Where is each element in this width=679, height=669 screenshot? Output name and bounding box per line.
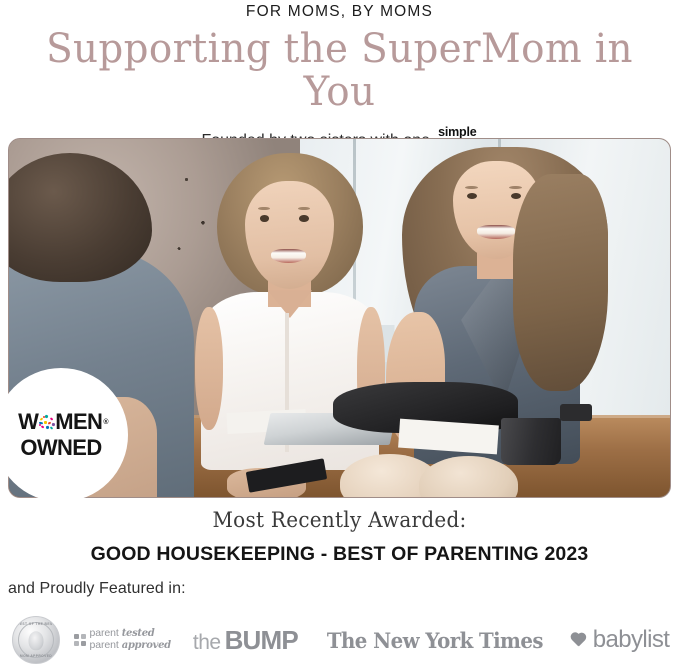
photo-woman-center-smile bbox=[271, 249, 306, 263]
cribsie-award-seal: BEST OF THE BEST MOM APPROVED bbox=[12, 616, 60, 664]
photo-woman-right-smile bbox=[477, 225, 515, 239]
press-logo-row: BEST OF THE BEST MOM APPROVED parent tes… bbox=[0, 612, 679, 668]
confetti-icon bbox=[38, 415, 55, 432]
registered-trademark-icon: ® bbox=[103, 419, 108, 426]
seal-baby-icon bbox=[29, 631, 44, 650]
ptpa-script-1: tested bbox=[122, 628, 155, 639]
women-owned-line2: OWNED bbox=[20, 437, 101, 459]
photo-coffee-mug bbox=[501, 418, 560, 465]
grid-squares-icon bbox=[74, 634, 86, 646]
page-title: Supporting the SuperMom in You bbox=[10, 28, 669, 114]
the-bump-logo: the BUMP bbox=[193, 625, 298, 656]
women-owned-badge: W MEN ® OWNED bbox=[0, 368, 128, 502]
heart-icon bbox=[570, 633, 586, 648]
photo-woman-center-eye-left bbox=[260, 215, 270, 222]
photo-woman-right-brow-left bbox=[465, 186, 478, 189]
women-owned-line1: W MEN ® bbox=[18, 411, 108, 433]
ptpa-script-2: approved bbox=[122, 640, 171, 651]
photo-foreground-person-hair bbox=[8, 153, 152, 282]
seal-bottom-text: MOM APPROVED bbox=[13, 654, 59, 658]
women-owned-w: W bbox=[18, 411, 38, 433]
ptpa-row-2: parent approved bbox=[90, 640, 171, 652]
ptpa-word-2: parent bbox=[90, 640, 119, 652]
photo-woman-center-eye-right bbox=[299, 215, 309, 222]
seal-top-text: BEST OF THE BEST bbox=[13, 622, 59, 626]
photo-woman-center-brow-right bbox=[298, 207, 310, 211]
photo-woman-right-brow-right bbox=[509, 186, 522, 189]
babylist-logo: babylist bbox=[570, 626, 670, 654]
the-bump-word: BUMP bbox=[225, 625, 298, 656]
the-new-york-times-logo: The New York Times bbox=[327, 628, 543, 653]
photo-woman-right-hair-front bbox=[513, 174, 608, 391]
eyebrow-text: FOR MOMS, BY MOMS bbox=[0, 0, 679, 20]
babylist-word: babylist bbox=[593, 626, 670, 654]
ptpa-text: parent tested parent approved bbox=[90, 628, 171, 652]
featured-in-label: and Proudly Featured in: bbox=[8, 580, 186, 598]
parent-tested-parent-approved-logo: parent tested parent approved bbox=[74, 628, 171, 652]
women-owned-men: MEN bbox=[55, 411, 102, 433]
most-recently-awarded-label: Most Recently Awarded: bbox=[17, 508, 662, 532]
award-name: GOOD HOUSEKEEPING - BEST OF PARENTING 20… bbox=[0, 543, 679, 566]
photo-woman-right-watch bbox=[560, 404, 592, 420]
the-bump-the: the bbox=[193, 631, 221, 655]
